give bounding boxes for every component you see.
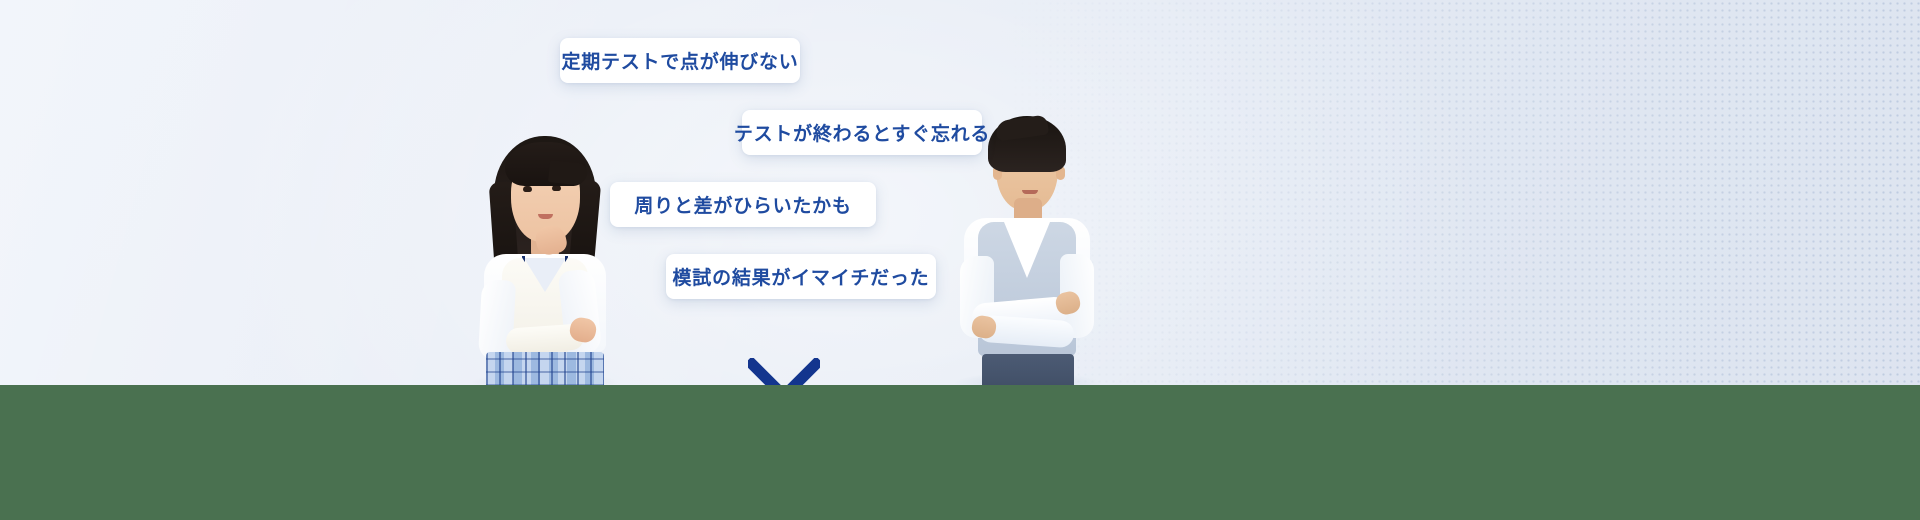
worry-bubble-4: 模試の結果がイマイチだった: [666, 254, 936, 299]
hero-section: 定期テストで点が伸びない テストが終わるとすぐ忘れる 周りと差がひらいたかも 模…: [0, 0, 1920, 520]
bottom-green-band: [0, 385, 1920, 520]
worry-bubble-2: テストが終わるとすぐ忘れる: [742, 110, 982, 155]
boy-hair: [988, 116, 1066, 172]
girl-bangs: [505, 142, 586, 186]
boy-mouth: [1022, 190, 1038, 194]
student-boy-photo: [960, 114, 1094, 386]
girl-eye-left: [523, 186, 532, 192]
worry-bubble-3-text: 周りと差がひらいたかも: [634, 191, 851, 218]
worry-bubble-2-text: テストが終わるとすぐ忘れる: [734, 119, 990, 146]
worry-bubble-4-text: 模試の結果がイマイチだった: [673, 263, 930, 290]
student-girl-photo: [478, 130, 612, 386]
worry-bubble-1: 定期テストで点が伸びない: [560, 38, 800, 83]
worry-bubble-1-text: 定期テストで点が伸びない: [561, 47, 798, 74]
worry-bubble-3: 周りと差がひらいたかも: [610, 182, 876, 227]
